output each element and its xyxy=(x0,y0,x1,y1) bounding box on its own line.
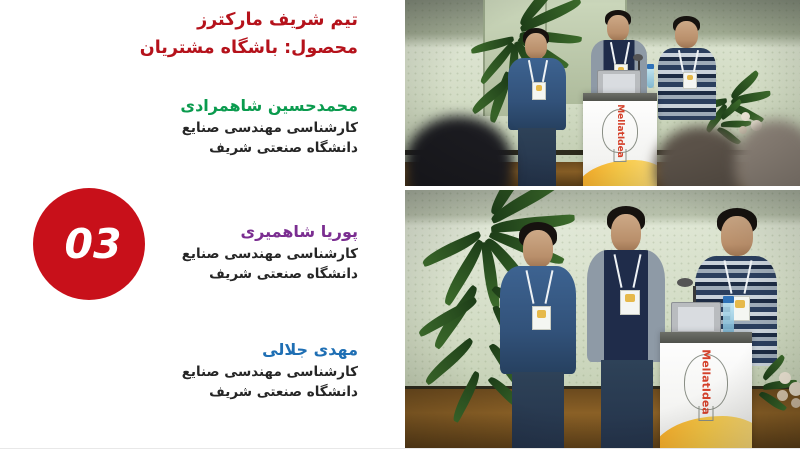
slide-title-block: تیم شریف مارکترز محصول: باشگاه مشتریان xyxy=(28,6,358,62)
photo-team-presentation-wide: MellatIdea xyxy=(405,0,800,186)
slide-number-text: 03 xyxy=(64,220,121,268)
podium: MellatIdea xyxy=(583,93,657,186)
slide-title-line-2: محصول: باشگاه مشتریان xyxy=(28,34,358,62)
water-bottle-cap xyxy=(647,64,654,69)
microphone-head xyxy=(677,278,693,287)
team-member-1-name: محمدحسین شاهمرادی xyxy=(28,94,358,118)
podium: MellatIdea xyxy=(660,332,752,449)
lightbulb-icon: MellatIdea xyxy=(684,354,728,410)
flower-arrangement xyxy=(757,368,800,430)
lightbulb-base-icon xyxy=(699,406,714,421)
team-member-1: محمدحسین شاهمرادی کارشناسی مهندسی صنایع … xyxy=(28,94,358,158)
slide-title-line-1: تیم شریف مارکترز xyxy=(28,6,358,34)
laptop-screen xyxy=(603,74,635,94)
laptop xyxy=(671,302,721,336)
team-member-1-degree: کارشناسی مهندسی صنایع xyxy=(28,118,358,138)
water-bottle xyxy=(647,68,654,88)
podium-swoosh-graphic xyxy=(660,416,752,449)
podium-top-surface xyxy=(583,93,657,101)
team-member-3: مهدی جلالی کارشناسی مهندسی صنایع دانشگاه… xyxy=(28,338,358,402)
water-bottle xyxy=(723,302,734,334)
water-bottle-cap xyxy=(723,296,734,303)
team-member-3-name: مهدی جلالی xyxy=(28,338,358,362)
podium-logo-text: MellatIdea xyxy=(700,349,713,414)
presenter-2 xyxy=(587,206,665,449)
team-member-1-university: دانشگاه صنعتی شریف xyxy=(28,138,358,158)
presenter-1 xyxy=(508,28,566,186)
presentation-slide: تیم شریف مارکترز محصول: باشگاه مشتریان م… xyxy=(0,0,800,449)
team-member-3-degree: کارشناسی مهندسی صنایع xyxy=(28,362,358,382)
laptop-screen xyxy=(678,307,715,331)
lightbulb-icon: MellatIdea xyxy=(602,109,638,153)
podium-top-surface xyxy=(660,332,752,343)
lightbulb-base-icon xyxy=(614,149,627,162)
photo-scene: MellatIdea xyxy=(405,190,800,449)
podium-swoosh-graphic xyxy=(583,160,657,186)
microphone-head xyxy=(633,54,643,61)
slide-number-badge: 03 xyxy=(33,188,145,300)
photo-scene: MellatIdea xyxy=(405,0,800,186)
team-member-3-university: دانشگاه صنعتی شریف xyxy=(28,382,358,402)
presenter-1 xyxy=(500,222,576,449)
text-panel: تیم شریف مارکترز محصول: باشگاه مشتریان م… xyxy=(0,0,400,449)
photo-team-presentation-closeup: MellatIdea xyxy=(405,190,800,449)
